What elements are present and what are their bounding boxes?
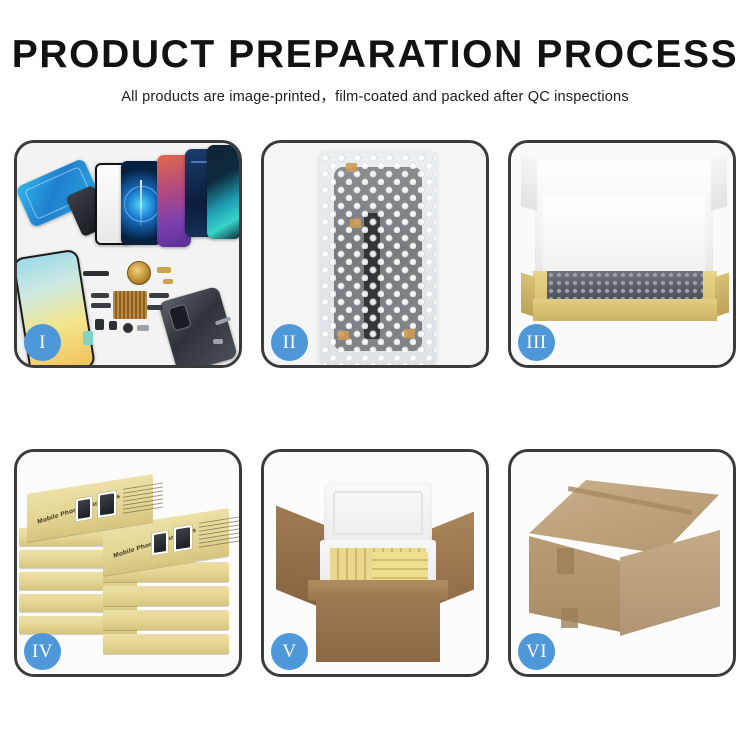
carton-front-face <box>316 594 440 662</box>
lightning-wallpaper-phone <box>121 161 161 245</box>
box-window-lower-b <box>173 524 193 553</box>
step-badge-4: IV <box>24 633 61 670</box>
step-badge-1: I <box>24 324 61 361</box>
tape-piece-bottom-left <box>338 331 349 340</box>
small-part-strip <box>83 271 109 276</box>
stacked-box-r3 <box>103 610 229 630</box>
step-image-6: VI <box>511 452 733 674</box>
header: PRODUCT PREPARATION PROCESS All products… <box>0 34 750 106</box>
foam-box-lid <box>324 482 432 544</box>
box-spec-text-upper <box>123 482 163 514</box>
step-badge-3: III <box>518 324 555 361</box>
bubble-wrapped-contents <box>547 271 703 299</box>
screw-part <box>213 339 223 344</box>
step-image-2: II <box>264 143 486 365</box>
step-panel-3: III <box>508 140 736 368</box>
step-panel-2: II <box>261 140 489 368</box>
tape-piece-bottom-right <box>404 329 415 338</box>
step-panel-4: Mobile Phone Spare Parts Mobile Phone Sp… <box>14 449 242 677</box>
small-part-gold-b <box>163 279 173 284</box>
step-badge-5: V <box>271 633 308 670</box>
speaker-coil-part <box>127 261 151 285</box>
page-title: PRODUCT PREPARATION PROCESS <box>0 34 750 76</box>
tape-piece-middle <box>350 219 361 228</box>
tape-piece-top <box>346 163 357 172</box>
step-badge-6: VI <box>518 633 555 670</box>
box-window-upper-b <box>97 490 117 519</box>
stacked-box-r4 <box>103 634 229 654</box>
step-image-5: V <box>264 452 486 674</box>
sim-tray-part <box>83 331 93 345</box>
foam-sheet <box>543 197 705 273</box>
step-image-4: Mobile Phone Spare Parts Mobile Phone Sp… <box>17 452 239 674</box>
flex-cable-d <box>147 305 163 310</box>
bracket-part <box>137 325 149 331</box>
step-badge-2: II <box>271 324 308 361</box>
step-panel-1: I <box>14 140 242 368</box>
flex-cable-b <box>91 303 111 308</box>
button-part-a <box>95 319 104 330</box>
chip-array-part <box>113 291 147 319</box>
step-image-3: III <box>511 143 733 365</box>
button-part-b <box>109 321 117 330</box>
step-panel-5: V <box>261 449 489 677</box>
camera-lens-part <box>123 323 133 333</box>
flex-cable-c <box>149 293 169 298</box>
teal-swirl-phone <box>207 145 239 239</box>
product-preparation-process-page: PRODUCT PREPARATION PROCESS All products… <box>0 0 750 750</box>
small-part-gold-a <box>157 267 171 273</box>
process-steps-grid: I II <box>14 140 736 677</box>
kraft-box-front-face <box>533 299 717 321</box>
box-window-upper-a <box>75 496 93 523</box>
box-window-lower-a <box>151 530 169 557</box>
bubble-wrap-bag <box>320 153 436 365</box>
carton-tape-upper <box>557 548 574 574</box>
carton-tape-lower <box>561 608 578 628</box>
step-panel-6: VI <box>508 449 736 677</box>
flex-cable-a <box>91 293 109 298</box>
page-subtitle: All products are image-printed，film-coat… <box>0 85 750 106</box>
stacked-box-r2 <box>103 586 229 606</box>
step-image-1: I <box>17 143 239 365</box>
box-spec-text-lower <box>199 516 239 548</box>
